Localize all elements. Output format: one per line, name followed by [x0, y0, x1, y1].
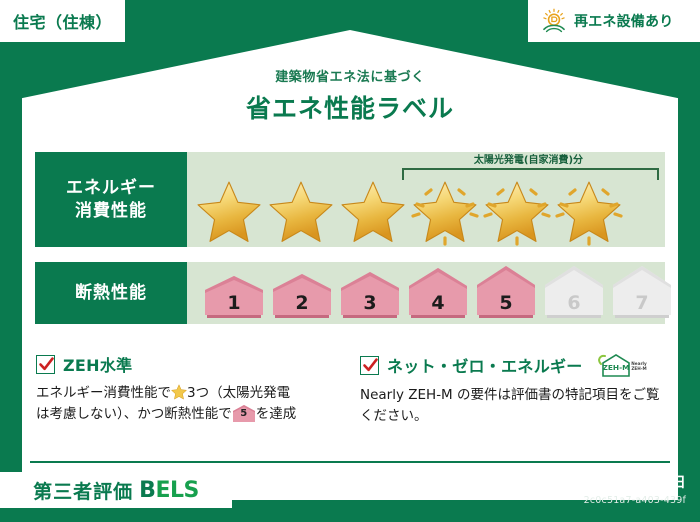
- zeh-body-part1: エネルギー消費性能で: [36, 385, 171, 401]
- svg-text:ZEH-M: ZEH-M: [602, 363, 629, 372]
- renewable-equipment-chip: 再エネ設備あり: [528, 0, 700, 42]
- zeh-standard-body: エネルギー消費性能で3つ（太陽光発電は考慮しない）、かつ断熱性能で5を達成: [36, 383, 338, 425]
- insulation-grade-5: 5: [475, 266, 537, 318]
- evaluation-date: 評価日 2025年5月12日: [525, 472, 686, 492]
- insulation-grade-7: 7: [611, 266, 673, 318]
- label-subtitle: 建築物省エネ法に基づく: [0, 66, 700, 85]
- zeh-standard-title: ZEH水準: [63, 352, 132, 376]
- star-filled: [337, 176, 409, 248]
- energy-label-line2: 消費性能: [75, 200, 147, 223]
- solar-sun-icon: [540, 7, 568, 35]
- bels-jp-text: 第三者評価: [33, 477, 133, 504]
- zeh-m-logo-icon: ZEH-M Nearly ZEH-M: [595, 352, 651, 378]
- star-filled: [265, 176, 337, 248]
- star-filled-solar: [553, 176, 625, 248]
- grade-number: 1: [203, 292, 265, 314]
- star-rating: [187, 178, 665, 245]
- grade-number: 3: [339, 292, 401, 314]
- insulation-grade-3: 3: [339, 272, 401, 318]
- grade-number: 7: [611, 292, 673, 314]
- energy-performance-row: エネルギー 消費性能 太陽光発電(自家消費)分: [35, 152, 665, 247]
- net-zero-energy-title: ネット・ゼロ・エネルギー: [387, 353, 583, 377]
- insulation-grade-6: 6: [543, 266, 605, 318]
- svg-text:ZEH-M: ZEH-M: [631, 366, 646, 371]
- title-block: 建築物省エネ法に基づく 省エネ性能ラベル: [0, 66, 700, 125]
- grade-number: 5: [475, 292, 537, 314]
- bels-badge: 第三者評価 BELS: [0, 472, 232, 508]
- evaluation-info: 評価日 2025年5月12日 2c0c51a7-a403-439f: [525, 472, 686, 506]
- insulation-performance-row: 断熱性能 1 2: [35, 262, 665, 324]
- energy-label-line1: エネルギー: [66, 177, 156, 200]
- insulation-label: 断熱性能: [75, 282, 147, 305]
- zeh-standard-header: ZEH水準: [36, 352, 338, 376]
- evaluation-id: 2c0c51a7-a403-439f: [525, 495, 686, 506]
- bels-letters-els: ELS: [155, 478, 198, 503]
- insulation-grade-1: 1: [203, 276, 265, 318]
- star-filled: [193, 176, 265, 248]
- net-zero-energy-header: ネット・ゼロ・エネルギー ZEH-M Nearly ZEH-M: [360, 352, 660, 378]
- star-filled-solar: [409, 176, 481, 248]
- footer-divider: [30, 461, 670, 463]
- bels-logo-text: BELS: [139, 478, 199, 503]
- building-type-chip: 住宅（住棟）: [0, 0, 125, 42]
- insulation-grade-4: 4: [407, 268, 469, 318]
- net-zero-energy-criteria: ネット・ゼロ・エネルギー ZEH-M Nearly ZEH-M Nearly Z…: [360, 352, 660, 427]
- star-inline-icon: [171, 384, 187, 400]
- grade-badge-inline: 5: [232, 405, 256, 422]
- checkbox-checked-icon[interactable]: [36, 355, 55, 374]
- zeh-standard-criteria: ZEH水準 エネルギー消費性能で3つ（太陽光発電は考慮しない）、かつ断熱性能で5…: [36, 352, 338, 425]
- energy-performance-label-box: エネルギー 消費性能: [35, 152, 187, 247]
- energy-performance-label: 住宅（住棟） 再エネ設備あり 建築物省エ: [0, 0, 700, 522]
- checkbox-checked-icon[interactable]: [360, 356, 379, 375]
- insulation-performance-houses-area: 1 2 3: [187, 262, 665, 324]
- zeh-body-part3: は考慮しない）、かつ断熱性能で: [36, 406, 232, 422]
- page-title: 省エネ性能ラベル: [0, 89, 700, 125]
- grade-badge-number: 5: [232, 406, 256, 422]
- insulation-performance-label-box: 断熱性能: [35, 262, 187, 324]
- grade-number: 4: [407, 292, 469, 314]
- bels-letter-b: B: [139, 478, 155, 503]
- star-filled-solar: [481, 176, 553, 248]
- grade-number: 6: [543, 292, 605, 314]
- energy-performance-stars-area: 太陽光発電(自家消費)分: [187, 152, 665, 247]
- renewable-equipment-text: 再エネ設備あり: [574, 11, 673, 31]
- insulation-grade-scale: 1 2 3: [203, 262, 657, 324]
- zeh-body-part4: を達成: [256, 406, 297, 422]
- building-type-text: 住宅（住棟）: [13, 9, 112, 33]
- grade-number: 2: [271, 292, 333, 314]
- insulation-grade-2: 2: [271, 274, 333, 318]
- evaluator-name: Verite: [240, 484, 281, 500]
- zeh-body-part2: 3つ（太陽光発電: [187, 385, 290, 401]
- net-zero-energy-body: Nearly ZEH-M の要件は評価書の特記項目をご覧ください。: [360, 385, 660, 427]
- solar-bracket-label: 太陽光発電(自家消費)分: [392, 151, 665, 166]
